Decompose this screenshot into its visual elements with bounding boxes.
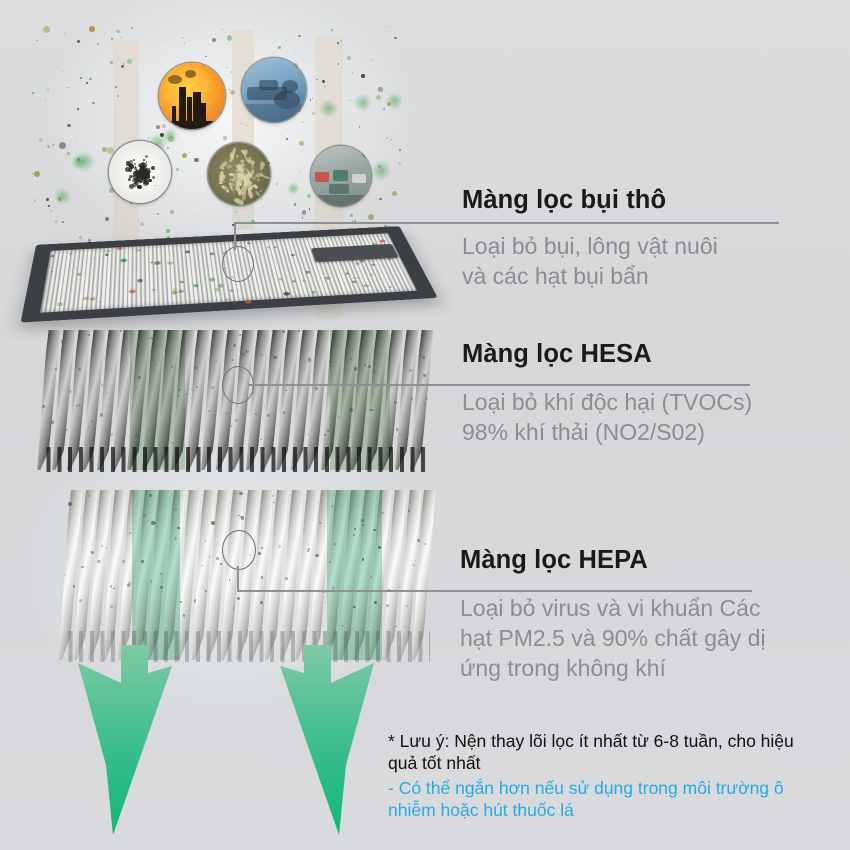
pleat-speck [239, 334, 241, 336]
trapped-dust-speck [283, 292, 290, 296]
pleat-speck [325, 602, 326, 603]
black-soot-dust-photo [109, 141, 171, 203]
pleat-speck [102, 559, 103, 560]
trapped-dust-speck [77, 273, 82, 276]
pollutant-particle [77, 108, 79, 110]
pleat-speck [378, 546, 381, 549]
soot-speck [134, 163, 136, 165]
clean-air-arrow-left [78, 645, 172, 835]
pollen-spore [252, 162, 254, 168]
soot-speck [145, 155, 148, 158]
pleat-speck [329, 361, 331, 363]
pleat-speck [55, 368, 57, 370]
pollutant-particle [399, 149, 401, 151]
pollutant-particle [67, 152, 70, 155]
trapped-dust-speck [305, 271, 311, 274]
pleat-speck [394, 350, 395, 351]
replacement-note: * Lưu ý: Nện thay lõi lọc ít nhất từ 6-8… [388, 730, 838, 822]
pleat-speck [256, 439, 257, 440]
pleat-speck [364, 334, 366, 336]
trapped-dust-speck [57, 302, 63, 306]
pollutant-particle [300, 172, 301, 173]
trapped-dust-speck [173, 288, 177, 291]
trapped-dust-speck [90, 297, 96, 301]
pollutant-particle [276, 183, 278, 185]
pleat-speck [230, 425, 232, 427]
pleat-speck [417, 539, 420, 542]
pollutant-particle [372, 60, 373, 61]
trapped-dust-speck [279, 278, 283, 280]
pollutant-particle [231, 71, 232, 72]
pleat-speck [308, 358, 311, 361]
pleat-speck [68, 502, 71, 505]
trapped-dust-speck [93, 258, 95, 259]
pleat-speck [120, 330, 122, 332]
road-traffic-photo [311, 146, 371, 206]
pollen-spores-photo [208, 143, 270, 205]
pollutant-particle [62, 71, 63, 72]
pleat-speck [373, 529, 376, 532]
pollutant-particle [46, 198, 49, 201]
trapped-dust-speck [273, 246, 277, 248]
pollutant-particle [286, 138, 287, 139]
pleat-speck [241, 516, 244, 519]
trapped-dust-speck [121, 259, 127, 262]
pollutant-particle [212, 38, 216, 42]
pleat-speck [415, 560, 416, 561]
pleat-speck [395, 626, 397, 628]
trapped-dust-speck [105, 250, 110, 253]
trapped-dust-speck [50, 255, 54, 257]
trapped-dust-speck [355, 262, 361, 265]
pollutant-particle-bloom [354, 93, 373, 112]
pleat-speck [368, 365, 371, 368]
pleat-speck [78, 368, 81, 371]
trapped-dust-speck [389, 286, 392, 288]
pollutant-particle [89, 26, 95, 32]
pleat-speck [394, 401, 397, 404]
trapped-dust-speck [209, 253, 214, 256]
pleat-speck [171, 365, 173, 367]
pleat-speck [129, 532, 131, 534]
trapped-dust-speck [302, 280, 306, 282]
pleat-speck [169, 565, 170, 566]
pleat-speck [100, 413, 103, 416]
hepa-filter-pleats [62, 490, 430, 660]
pleat-speck [324, 434, 326, 436]
pollutant-particle [337, 42, 339, 44]
pleat-speck [188, 490, 189, 491]
pleat-speck [408, 510, 410, 512]
trapped-dust-speck [209, 278, 216, 282]
pleat-speck [332, 587, 334, 589]
trapped-dust-speck [324, 277, 330, 280]
pollutant-particle [230, 90, 235, 95]
pleat-speck [177, 395, 179, 397]
trapped-dust-speck [217, 284, 224, 288]
pleat-speck [273, 356, 276, 359]
trapped-dust-speck [388, 258, 392, 260]
pollutant-particle [59, 142, 66, 149]
trapped-dust-speck [291, 254, 295, 256]
trapped-dust-speck [292, 280, 296, 282]
soot-speck [144, 170, 149, 175]
pleat-speck [69, 390, 72, 393]
soot-speck [143, 159, 145, 161]
pollen-spore [261, 174, 270, 179]
trapped-dust-speck [130, 289, 136, 293]
pleat-speck [258, 552, 261, 555]
pleat-speck [381, 512, 384, 515]
label-block-hesa: Màng lọc HESA Loại bỏ khí độc hại (TVOCs… [462, 340, 842, 448]
pollutant-particle [39, 138, 43, 142]
soot-speck [128, 168, 132, 172]
pleat-speck [273, 502, 274, 503]
soot-speck [155, 185, 156, 186]
pleat-speck [331, 506, 333, 508]
trapped-dust-speck [339, 264, 342, 265]
pleat-speck [73, 585, 75, 587]
trapped-dust-speck [178, 290, 184, 294]
trapped-dust-speck [230, 290, 235, 293]
pollutant-particle [338, 63, 340, 65]
trapped-dust-speck [180, 280, 184, 283]
pleat-speck [203, 354, 204, 355]
pollutant-particle [194, 158, 199, 163]
soot-speck [133, 159, 135, 161]
trapped-dust-speck [352, 280, 357, 283]
trapped-dust-speck [311, 291, 316, 294]
trapped-dust-speck [69, 253, 72, 255]
pleat-speck [424, 403, 426, 405]
pollutant-particle [32, 173, 34, 175]
trapped-dust-speck [353, 277, 356, 278]
trapped-dust-speck [185, 250, 190, 253]
pollutant-particle [246, 125, 247, 126]
pleat-speck [209, 556, 210, 557]
coarse-filter-description: Loại bỏ bụi, lông vật nuôi và các hạt bụ… [462, 232, 832, 292]
pleat-speck [135, 434, 138, 437]
pleat-speck [91, 551, 94, 554]
pleat-speck [127, 584, 129, 586]
pollutant-particle [176, 168, 179, 171]
pollutant-particle [47, 145, 50, 148]
pollutant-particle [127, 59, 132, 64]
pleat-speck [138, 376, 141, 379]
trapped-dust-speck [351, 260, 355, 262]
soot-speck [142, 163, 146, 167]
pleat-speck [132, 407, 133, 408]
hepa-filter-title: Màng lọc HEPA [460, 546, 850, 574]
trapped-dust-speck [83, 297, 88, 300]
pleat-speck [416, 545, 417, 546]
pleat-speck [260, 601, 263, 604]
pollutant-particle [65, 154, 66, 155]
pollutant-particle [92, 102, 95, 105]
pleat-speck [51, 421, 54, 424]
infographic-canvas: Màng lọc bụi thô Loại bỏ bụi, lông vật n… [0, 0, 850, 850]
trapped-dust-speck [369, 274, 373, 276]
pleat-speck [272, 495, 274, 497]
clean-air-arrow-right [280, 645, 374, 835]
pleat-speck [354, 367, 357, 370]
pleat-speck [239, 492, 242, 495]
pleat-speck [107, 392, 108, 393]
pleat-speck [91, 420, 93, 422]
pleat-speck [143, 514, 147, 518]
pleat-speck [348, 436, 350, 438]
pleat-speck [154, 364, 156, 366]
trapped-dust-speck [268, 247, 270, 248]
pleat-speck [191, 388, 193, 390]
label-block-coarse: Màng lọc bụi thô Loại bỏ bụi, lông vật n… [462, 186, 832, 292]
pleat-speck [211, 521, 214, 524]
pollutant-particle [298, 35, 301, 38]
pleat-speck [237, 597, 240, 600]
trapped-dust-speck [214, 288, 220, 292]
trapped-dust-speck [150, 261, 153, 263]
label-block-hepa: Màng lọc HEPA Loại bỏ virus và vi khuẩn … [460, 546, 850, 684]
pleat-speck [106, 547, 108, 549]
trapped-dust-speck [105, 254, 109, 256]
pleat-speck [215, 360, 217, 362]
trapped-dust-speck [345, 273, 349, 275]
trapped-dust-speck [157, 250, 159, 251]
trapped-dust-speck [249, 244, 251, 245]
pollutant-particle [76, 139, 77, 140]
soot-speck [151, 166, 156, 171]
pleat-speck [194, 366, 198, 370]
pleat-speck [260, 439, 262, 441]
soot-speck [128, 163, 132, 167]
trapped-dust-speck [152, 289, 155, 291]
soot-speck [152, 176, 155, 179]
pollutant-particle [36, 40, 37, 41]
replacement-note-secondary: - Có thể ngắn hơn nếu sử dụng trong môi … [388, 777, 838, 822]
pleat-speck [406, 605, 408, 607]
pleat-speck [411, 397, 413, 399]
trapped-dust-speck [323, 250, 328, 253]
trapped-dust-speck [168, 261, 174, 264]
pollutant-particle [386, 137, 388, 139]
pleat-speck [42, 405, 44, 407]
factory-smokestacks-photo [159, 63, 225, 129]
pleat-speck [160, 586, 163, 589]
pollutant-particle [97, 43, 99, 45]
trapped-dust-speck [371, 264, 376, 266]
leader-line-hepa-vertical [237, 566, 239, 592]
pleat-speck [362, 558, 365, 561]
pleat-speck [174, 537, 177, 540]
pleat-speck [110, 433, 114, 437]
pollutant-particle [278, 46, 281, 49]
pollutant-particle [312, 98, 313, 99]
pleat-speck [160, 573, 162, 575]
trapped-dust-speck [137, 249, 140, 251]
trapped-dust-speck [51, 271, 53, 272]
pleat-speck [123, 367, 124, 368]
trapped-dust-speck [226, 299, 229, 301]
trapped-dust-speck [268, 296, 271, 298]
hesa-filter-title: Màng lọc HESA [462, 340, 842, 368]
trapped-dust-speck [245, 300, 252, 304]
pleat-speck [88, 334, 90, 336]
pleat-speck [319, 522, 322, 525]
pleat-speck [149, 494, 152, 497]
pollutant-particle [322, 80, 325, 83]
pollen-spore [236, 154, 239, 157]
pollutant-particle [67, 124, 71, 128]
trapped-dust-speck [137, 279, 143, 283]
trapped-dust-speck [99, 301, 102, 303]
trapped-dust-speck [117, 247, 122, 250]
pleat-speck [229, 579, 230, 580]
replacement-note-primary: * Lưu ý: Nện thay lõi lọc ít nhất từ 6-8… [388, 730, 838, 775]
pollutant-particle [359, 126, 361, 128]
pleat-speck [110, 605, 113, 608]
pollutant-particle [324, 86, 325, 87]
trapped-dust-speck [357, 277, 360, 279]
pleat-speck [370, 576, 372, 578]
pollen-spore [257, 178, 260, 182]
pollen-spore [226, 164, 232, 169]
pollutant-particle-bloom [386, 92, 404, 110]
pleat-speck [278, 545, 281, 548]
pollutant-particle [331, 29, 333, 31]
pollutant-particle [295, 52, 296, 53]
pleat-speck [282, 330, 285, 333]
vehicle-exhaust-photo [242, 58, 306, 122]
pleat-speck [61, 340, 63, 342]
pleat-speck [386, 604, 389, 607]
pollutant-particle [121, 65, 124, 68]
pleat-speck [399, 586, 401, 588]
pollen-spore [229, 152, 234, 160]
pollutant-particle [47, 89, 49, 91]
pollutant-particle [347, 56, 350, 59]
pleat-speck [264, 406, 265, 407]
trapped-dust-speck [359, 260, 364, 263]
trapped-dust-speck [155, 261, 160, 264]
soot-speck [148, 179, 152, 183]
pollutant-particle [361, 74, 365, 78]
hepa-filter-description: Loại bỏ virus và vi khuẩn Các hạt PM2.5 … [460, 594, 850, 684]
pollutant-particle [378, 87, 383, 92]
pollutant-particle [316, 79, 317, 80]
pleat-speck [425, 397, 428, 400]
trapped-dust-speck [370, 255, 373, 256]
pleat-speck [353, 606, 355, 608]
clean-air-outflow-arrows [60, 645, 390, 850]
pleat-speck [303, 529, 304, 530]
callout-circle-hepa [222, 530, 256, 570]
trapped-dust-speck [380, 239, 387, 242]
pollutant-particle-bloom [287, 182, 300, 195]
pollutant-particle [398, 162, 401, 165]
leader-line-coarse-vertical [234, 224, 236, 250]
pleat-speck [315, 554, 318, 557]
trapped-dust-speck [372, 243, 378, 246]
pleat-speck [410, 350, 411, 351]
pleat-speck [97, 560, 101, 564]
trapped-dust-speck [194, 284, 199, 287]
pollutant-particle [223, 136, 227, 140]
callout-circle-coarse [222, 246, 254, 282]
coarse-filter-title: Màng lọc bụi thô [462, 186, 832, 214]
pleat-speck [285, 390, 287, 392]
pleat-speck [122, 560, 125, 563]
pollutant-particle [110, 61, 113, 64]
pollen-spore [242, 189, 247, 200]
soot-speck [137, 185, 141, 189]
pleat-speck [338, 416, 340, 418]
hesa-filter-description: Loại bỏ khí độc hại (TVOCs) 98% khí thải… [462, 388, 842, 448]
pleat-speck [100, 382, 101, 383]
trapped-dust-speck [339, 246, 344, 248]
pleat-speck [183, 614, 185, 616]
pollutant-particle [222, 29, 223, 30]
trapped-dust-speck [75, 267, 77, 268]
pleat-speck [170, 421, 172, 423]
soot-speck [128, 178, 131, 181]
pleat-speck [148, 430, 149, 431]
pleat-speck [101, 384, 103, 386]
pleat-speck [177, 527, 180, 530]
trapped-dust-speck [172, 291, 178, 295]
trapped-dust-speck [363, 284, 370, 288]
